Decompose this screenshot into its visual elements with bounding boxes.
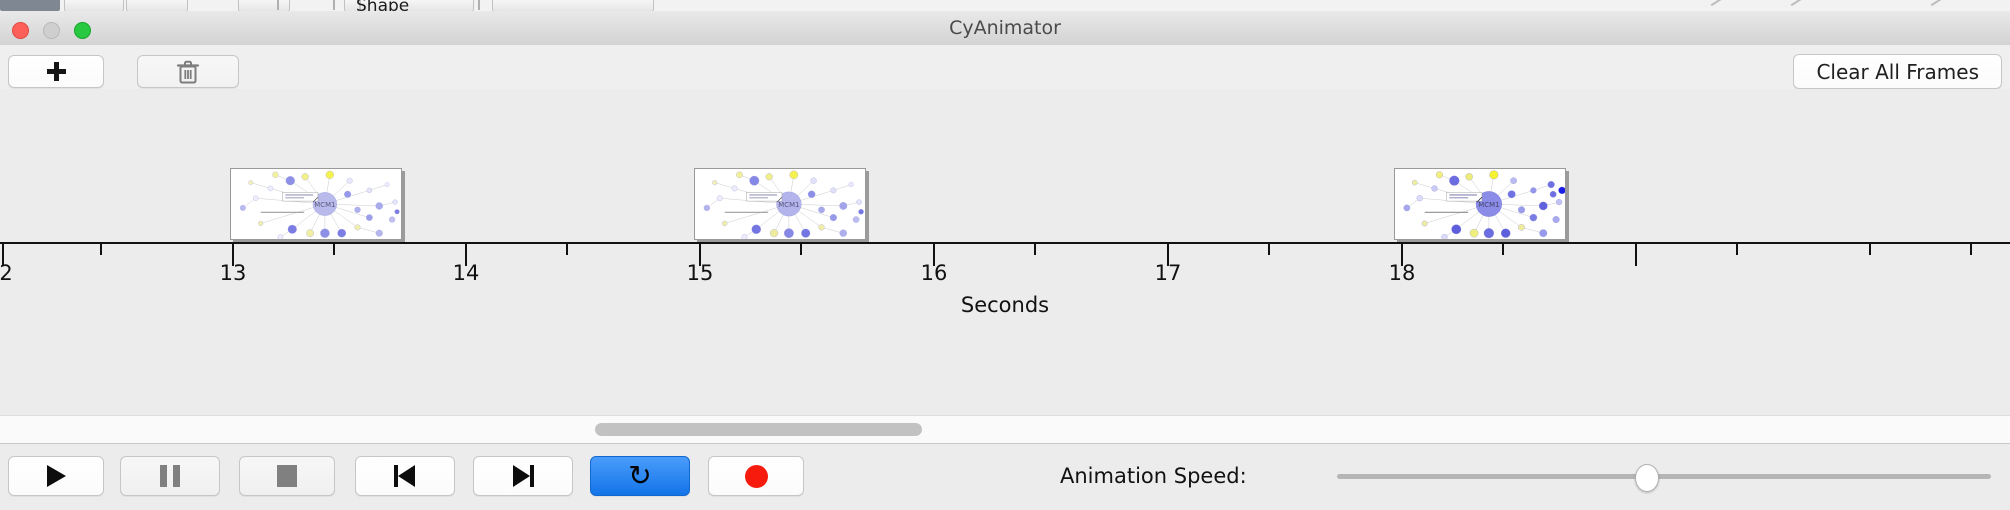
cyanimator-window: Shape CyAnimator Clear All Frames — [0, 0, 2010, 510]
bg-chrome-dark — [0, 0, 60, 11]
bg-chrome-mark — [478, 0, 480, 10]
slider-thumb[interactable] — [1635, 464, 1659, 492]
trash-icon — [176, 59, 200, 85]
axis-title: Seconds — [0, 293, 2010, 317]
loop-icon: ↻ — [628, 462, 651, 490]
playback-bar: ↻ Animation Speed: — [0, 443, 2010, 510]
stop-button[interactable] — [239, 456, 335, 496]
play-button[interactable] — [8, 456, 104, 496]
axis-tick — [800, 244, 802, 255]
toolbar: Clear All Frames — [0, 45, 2010, 90]
bg-chrome-diagonal — [1711, 0, 1726, 6]
skip-start-button[interactable] — [355, 456, 455, 496]
bg-chrome-diagonal — [1931, 0, 1946, 6]
axis-tick-label: 14 — [453, 261, 480, 285]
svg-text:MCM1: MCM1 — [314, 201, 335, 209]
bg-chrome-mark — [277, 0, 279, 10]
delete-frame-button[interactable] — [137, 55, 239, 88]
svg-text:MCM1: MCM1 — [1478, 201, 1499, 209]
axis-tick — [1736, 244, 1738, 255]
scrollbar-thumb[interactable] — [595, 423, 922, 436]
axis-tick-label: 18 — [1389, 261, 1416, 285]
axis-tick — [1869, 244, 1871, 255]
clear-all-frames-button[interactable]: Clear All Frames — [1793, 54, 2002, 89]
axis-tick — [1034, 244, 1036, 255]
timeline-panel[interactable]: MCM1 — [0, 89, 2010, 415]
axis-tick-label: 16 — [921, 261, 948, 285]
title-bar: CyAnimator — [0, 11, 2010, 46]
loop-button[interactable]: ↻ — [590, 456, 690, 496]
add-frame-button[interactable] — [8, 55, 104, 88]
axis-tick — [1502, 244, 1504, 255]
animation-speed-slider[interactable] — [1337, 456, 1991, 496]
timeline-axis — [0, 242, 2010, 244]
frame-thumbnail[interactable]: MCM1 — [1394, 168, 1566, 240]
axis-tick — [333, 244, 335, 255]
pause-icon — [160, 465, 180, 487]
axis-tick — [566, 244, 568, 255]
window-title: CyAnimator — [0, 11, 2010, 45]
axis-tick-label: 15 — [687, 261, 714, 285]
bg-chrome-mark — [333, 0, 335, 10]
axis-tick-label: 17 — [1155, 261, 1182, 285]
frame-thumbnail[interactable]: MCM1 — [230, 168, 402, 240]
axis-tick — [1635, 244, 1637, 266]
axis-tick-label: 13 — [220, 261, 247, 285]
svg-text:MCM1: MCM1 — [778, 201, 799, 209]
bg-chrome-diagonal — [1791, 0, 1806, 6]
pause-button[interactable] — [120, 456, 220, 496]
axis-tick-label: 2 — [0, 261, 13, 285]
play-icon — [47, 465, 66, 487]
stop-icon — [277, 465, 297, 487]
timeline-scrollbar[interactable] — [0, 415, 2010, 444]
skip-end-button[interactable] — [473, 456, 573, 496]
plus-icon — [47, 62, 66, 81]
frame-thumbnail[interactable]: MCM1 — [694, 168, 866, 240]
animation-speed-label: Animation Speed: — [1060, 456, 1247, 496]
axis-tick — [1970, 244, 1972, 255]
skip-start-icon — [394, 465, 416, 487]
skip-end-icon — [512, 465, 534, 487]
record-button[interactable] — [708, 456, 804, 496]
axis-tick — [1268, 244, 1270, 255]
axis-tick — [100, 244, 102, 255]
slider-track — [1337, 474, 1991, 479]
record-icon — [745, 465, 768, 488]
